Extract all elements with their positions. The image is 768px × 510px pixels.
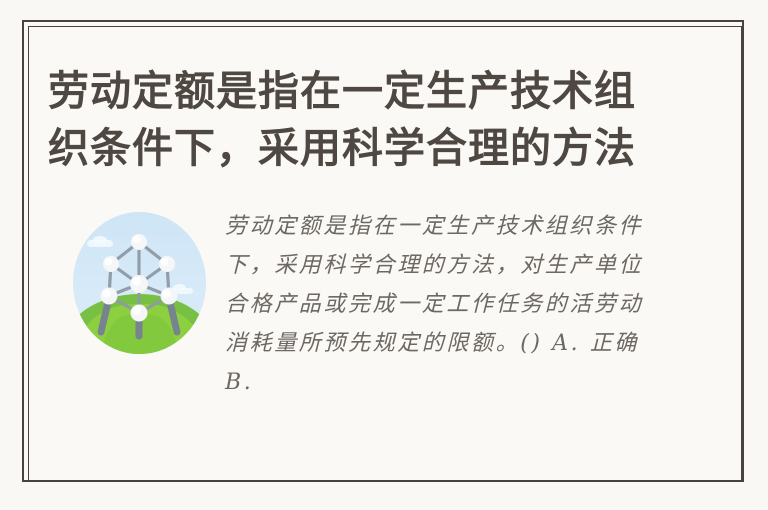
thumbnail-circle [73,212,206,354]
atomium-structure-icon [73,212,206,354]
page-title: 劳动定额是指在一定生产技术组织条件下，采用科学合理的方法 [48,63,648,177]
article-body-text: 劳动定额是指在一定生产技术组织条件下，采用科学合理的方法，对生产单位合格产品或完… [225,207,655,402]
content-area: 劳动定额是指在一定生产技术组织条件下，采用科学合理的方法 [29,27,741,480]
article-thumbnail [73,212,206,354]
page-root: 劳动定额是指在一定生产技术组织条件下，采用科学合理的方法 [0,0,768,510]
